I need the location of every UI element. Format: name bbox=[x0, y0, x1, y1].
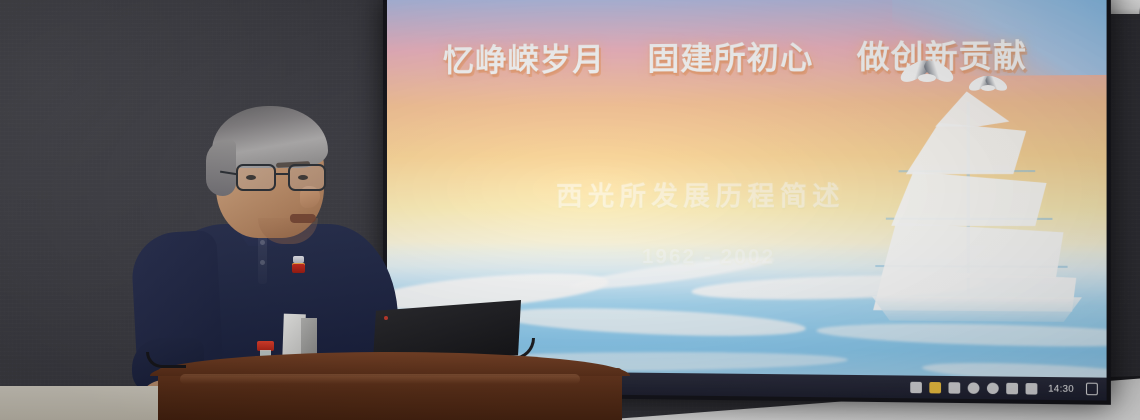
polo-button bbox=[260, 240, 265, 245]
polo-button bbox=[260, 260, 265, 265]
slide-subtitle: 西光所发展历程简述 bbox=[556, 175, 888, 213]
seagull-icon bbox=[899, 64, 955, 94]
glasses-bridge bbox=[276, 173, 288, 175]
glasses-lens-right bbox=[288, 164, 326, 191]
presenter-hair-side bbox=[206, 140, 236, 196]
podium-side-panel bbox=[0, 386, 170, 420]
badge-emblem bbox=[292, 263, 305, 273]
taskbar-system-tray[interactable]: 14:30 bbox=[910, 381, 1098, 396]
wave-crest bbox=[497, 304, 806, 341]
network-icon[interactable] bbox=[968, 382, 980, 394]
laptop-indicator-light bbox=[384, 316, 388, 320]
podium bbox=[150, 352, 630, 420]
glasses-lens-left bbox=[236, 164, 276, 191]
cloud-icon[interactable] bbox=[987, 382, 999, 394]
ship-sail bbox=[901, 120, 1029, 174]
sailing-ship-icon bbox=[869, 91, 1094, 315]
keyboard-icon[interactable] bbox=[1026, 382, 1038, 394]
usb-icon[interactable] bbox=[948, 382, 960, 394]
battery-icon[interactable] bbox=[929, 381, 941, 392]
shield-icon[interactable] bbox=[910, 381, 922, 392]
eyeglasses-icon bbox=[236, 164, 332, 194]
podium-highlight bbox=[180, 374, 580, 384]
ship-sail bbox=[888, 168, 1048, 226]
presentation-photo: 忆峥嵘岁月 固建所初心 做创新贡献 西光所发展历程简述 1962 - 2002 bbox=[0, 0, 1140, 420]
lapel-badge-icon bbox=[292, 256, 305, 273]
slide-date-range: 1962 - 2002 bbox=[642, 246, 775, 270]
headline-segment-1: 忆峥嵘岁月 bbox=[443, 34, 605, 81]
gull-body bbox=[981, 85, 995, 91]
seagull-icon bbox=[968, 78, 1008, 100]
wave-crest bbox=[816, 320, 1106, 350]
presenter-mouth bbox=[290, 214, 316, 223]
podium-top-surface bbox=[150, 352, 630, 376]
taskbar-clock[interactable]: 14:30 bbox=[1048, 383, 1074, 394]
ship-sail bbox=[877, 218, 1065, 279]
notification-icon[interactable] bbox=[1086, 383, 1098, 396]
gull-body bbox=[918, 74, 936, 82]
badge-top bbox=[293, 256, 304, 263]
input-method-icon[interactable] bbox=[1006, 382, 1018, 394]
headline-segment-2: 固建所初心 bbox=[647, 32, 813, 79]
ship-hull bbox=[863, 296, 1092, 322]
